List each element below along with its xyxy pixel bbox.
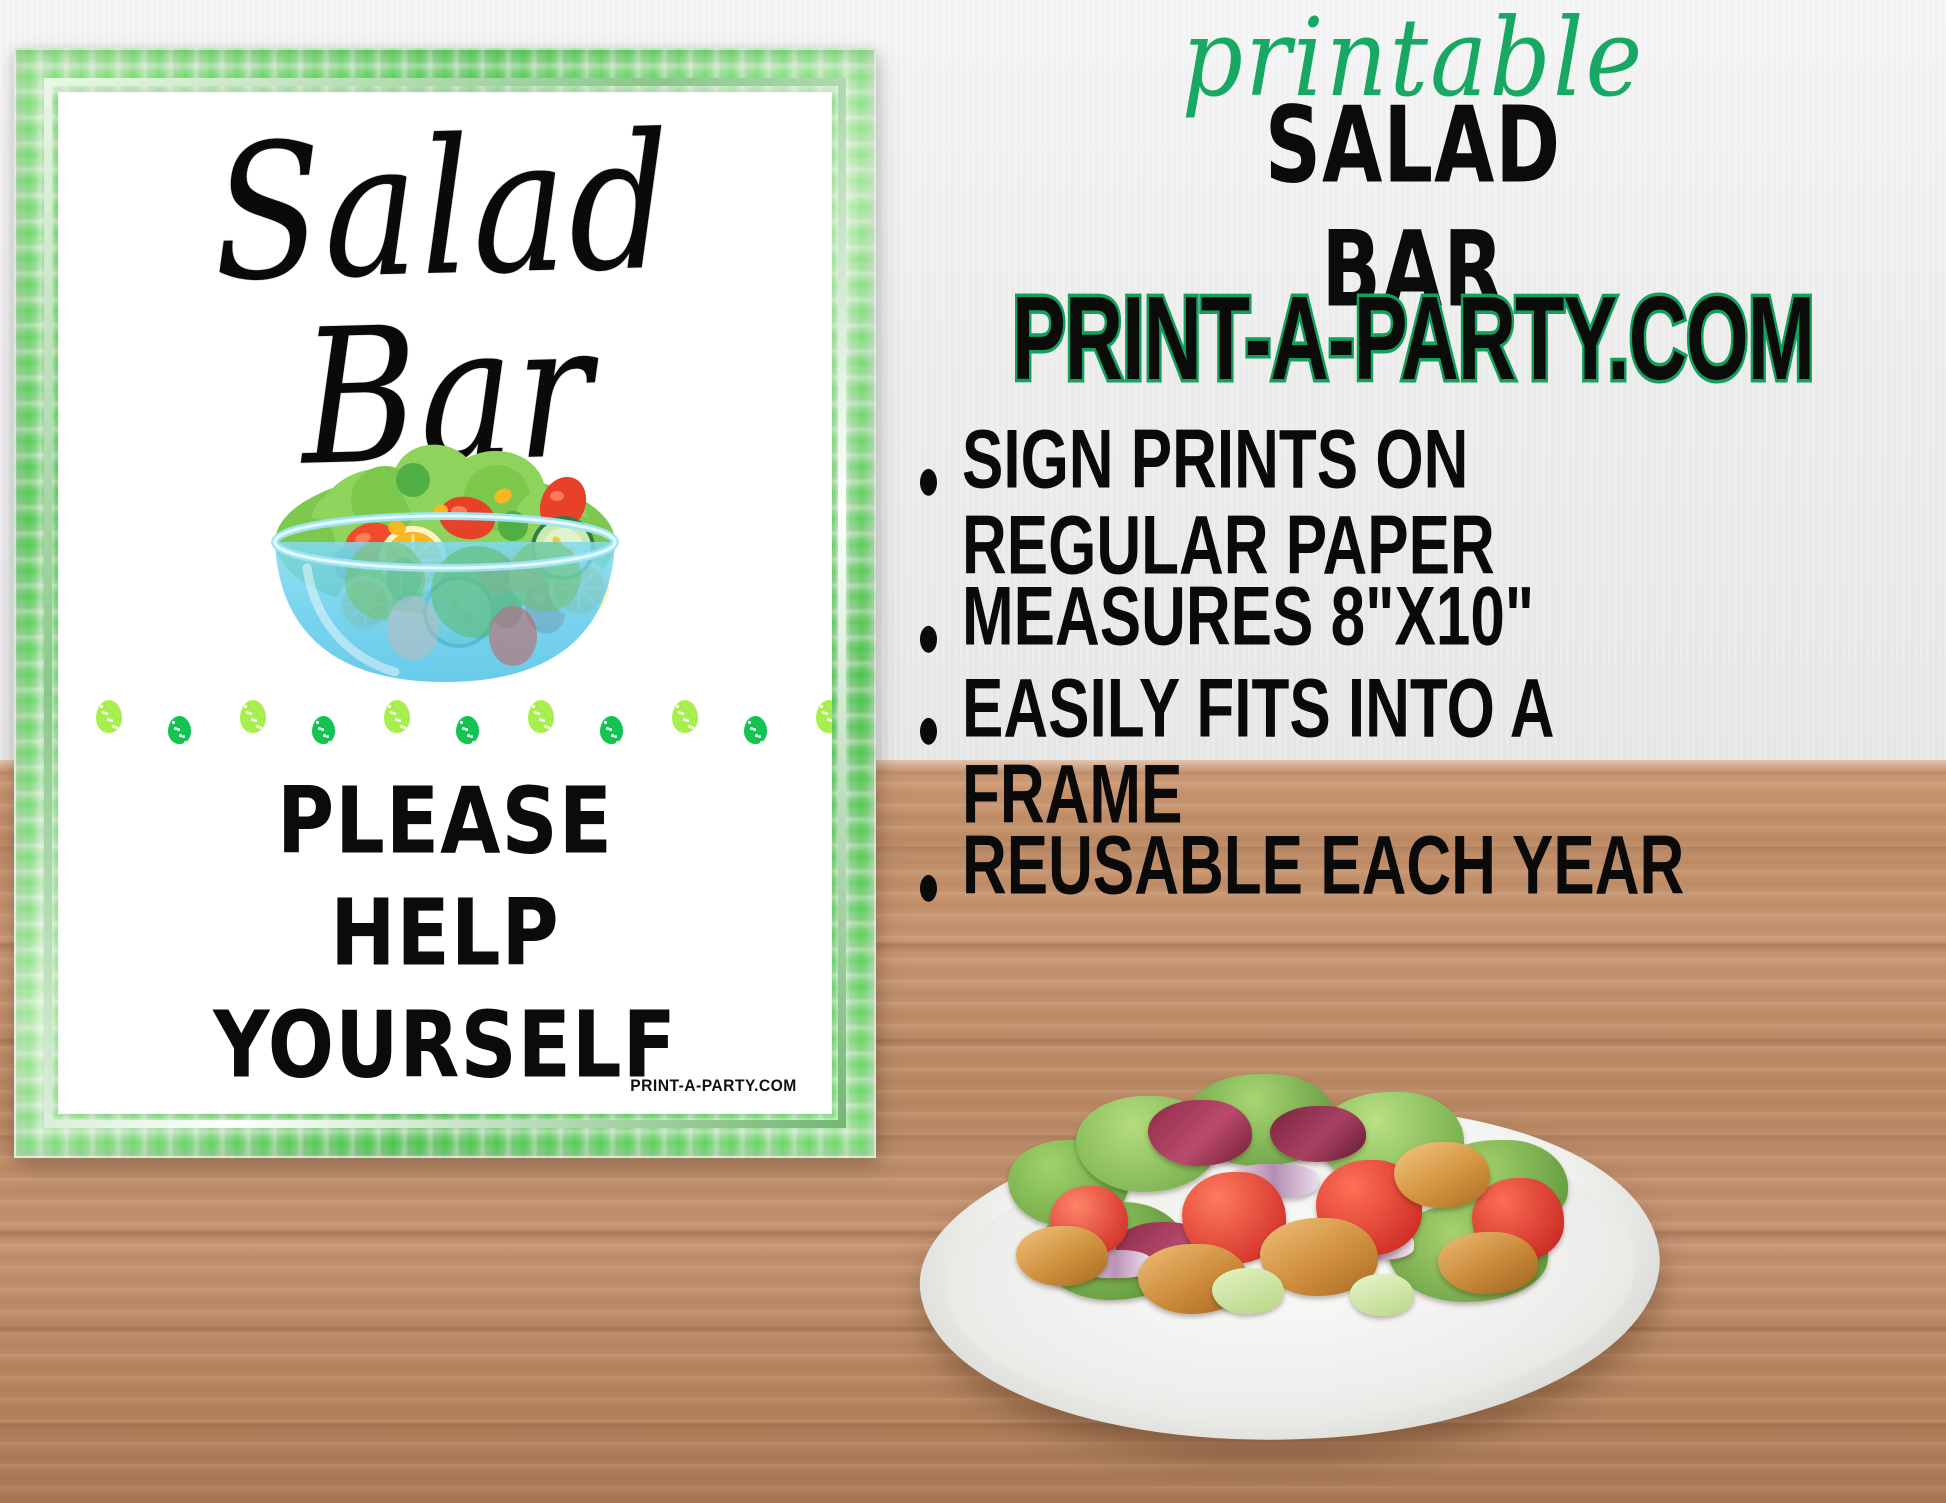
dot-speck <box>172 721 175 724</box>
dot-speck <box>537 712 540 715</box>
dot-speck <box>184 741 187 744</box>
divider-dot <box>240 700 266 733</box>
dot-speck <box>758 735 761 738</box>
divider-dot <box>672 700 698 733</box>
dot-speck <box>249 712 252 715</box>
sign-paper: Salad Bar <box>58 92 832 1114</box>
dot-speck <box>606 727 609 730</box>
dot-speck <box>609 728 612 731</box>
dot-speck <box>403 726 406 729</box>
dot-speck <box>182 735 185 738</box>
dot-speck <box>395 718 398 721</box>
dot-speck <box>686 719 689 722</box>
dot-speck <box>100 705 103 708</box>
dot-speck <box>827 718 830 721</box>
feature-list: SIGN PRINTS ON REGULAR PAPER MEASURES 8"… <box>902 418 1946 917</box>
dot-speck <box>604 721 607 724</box>
dot-speck <box>822 711 825 714</box>
dot-speck <box>825 712 828 715</box>
dot-speck <box>398 719 401 722</box>
sign-message: PLEASE HELP YOURSELF <box>58 766 832 1103</box>
sign-message-line-1: PLEASE <box>58 766 832 878</box>
dot-speck <box>691 726 694 729</box>
divider-dot <box>456 716 479 744</box>
dot-speck <box>331 742 334 745</box>
dot-speck <box>820 705 823 708</box>
dot-divider <box>86 700 804 750</box>
dot-speck <box>688 725 691 728</box>
dot-speck <box>760 741 763 744</box>
divider-dot <box>384 700 410 733</box>
dot-speck <box>676 705 679 708</box>
dot-speck <box>611 734 614 737</box>
divider-dot <box>96 700 122 733</box>
dot-speck <box>462 727 465 730</box>
dot-speck <box>400 725 403 728</box>
dot-speck <box>323 734 326 737</box>
dot-speck <box>460 721 463 724</box>
dot-speck <box>678 711 681 714</box>
dot-speck <box>763 742 766 745</box>
product-listing-image: Salad Bar <box>0 0 1946 1503</box>
dot-speck <box>321 728 324 731</box>
dot-speck <box>755 734 758 737</box>
dot-speck <box>542 719 545 722</box>
dot-speck <box>251 718 254 721</box>
dot-speck <box>179 734 182 737</box>
dot-speck <box>105 712 108 715</box>
sign-message-line-2: HELP <box>58 879 832 991</box>
dot-speck <box>467 734 470 737</box>
dot-speck <box>316 721 319 724</box>
dot-speck <box>328 741 331 744</box>
dot-speck <box>254 719 257 722</box>
dot-speck <box>534 711 537 714</box>
dot-speck <box>393 712 396 715</box>
brand-url: PRINT-A-PARTY.COM <box>901 278 1924 397</box>
dot-speck <box>683 718 686 721</box>
dot-speck <box>246 711 249 714</box>
dot-speck <box>259 726 262 729</box>
salad-plate-photo <box>880 1000 1946 1503</box>
dot-speck <box>388 705 391 708</box>
divider-dot <box>744 716 767 744</box>
dot-speck <box>177 728 180 731</box>
dot-speck <box>544 725 547 728</box>
dot-speck <box>472 741 475 744</box>
dot-speck <box>748 721 751 724</box>
dot-speck <box>547 726 550 729</box>
dot-speck <box>830 719 832 722</box>
dot-speck <box>187 742 190 745</box>
dot-speck <box>619 742 622 745</box>
feature-item: EASILY FITS INTO A FRAME <box>902 667 1946 840</box>
dot-speck <box>532 705 535 708</box>
dot-speck <box>750 727 753 730</box>
dot-speck <box>174 727 177 730</box>
dot-speck <box>539 718 542 721</box>
dot-speck <box>115 726 118 729</box>
dot-speck <box>475 742 478 745</box>
divider-dot <box>816 700 832 733</box>
dot-speck <box>244 705 247 708</box>
dot-speck <box>326 735 329 738</box>
dot-speck <box>753 728 756 731</box>
dot-speck <box>112 725 115 728</box>
sign-watermark: PRINT-A-PARTY.COM <box>630 1076 797 1096</box>
divider-dot <box>528 700 554 733</box>
food-heap <box>998 1044 1588 1344</box>
divider-dot <box>168 716 191 744</box>
dot-speck <box>390 711 393 714</box>
dot-speck <box>465 728 468 731</box>
dot-speck <box>318 727 321 730</box>
divider-dot <box>600 716 623 744</box>
dot-speck <box>681 712 684 715</box>
framed-sign: Salad Bar <box>14 48 876 1158</box>
divider-dot <box>312 716 335 744</box>
dot-speck <box>102 711 105 714</box>
dot-speck <box>614 735 617 738</box>
feature-item: REUSABLE EACH YEAR <box>902 824 1946 910</box>
product-title-line-1: SALAD <box>880 94 1946 199</box>
dot-speck <box>470 735 473 738</box>
dot-speck <box>616 741 619 744</box>
dot-speck <box>110 719 113 722</box>
feature-item: SIGN PRINTS ON REGULAR PAPER <box>902 418 1946 591</box>
dot-speck <box>107 718 110 721</box>
salad-bowl-illustration <box>245 392 645 692</box>
dot-speck <box>256 725 259 728</box>
feature-item: MEASURES 8"X10" <box>902 575 1946 661</box>
